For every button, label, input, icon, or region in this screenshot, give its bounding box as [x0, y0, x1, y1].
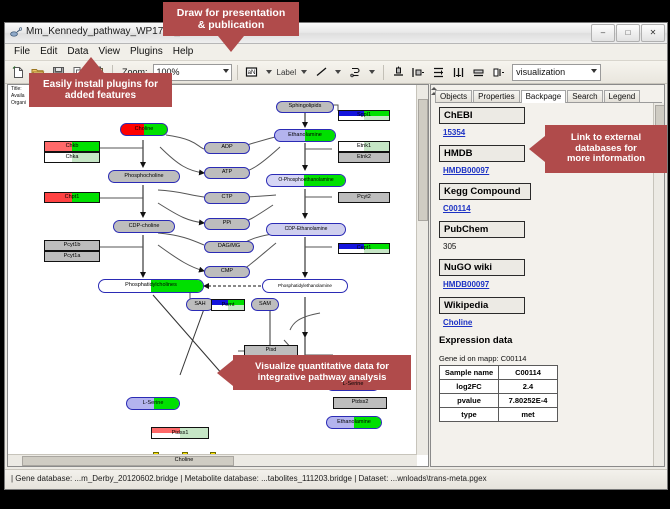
callout-draw-text: Draw for presentation & publication: [177, 7, 286, 31]
db-header-nugo-wiki: NuGO wiki: [439, 259, 525, 276]
gene-etnk1[interactable]: Etnk1: [338, 141, 390, 152]
expression-table: Sample name C00114 log2FC 2.4 pvalue 7.8…: [439, 365, 558, 422]
table-row: pvalue 7.80252E-4: [440, 394, 558, 408]
metabolite-dag-mg[interactable]: DAG/MG: [204, 241, 254, 253]
callout-links-arrow: [529, 136, 545, 162]
db-link-kegg-compound[interactable]: C00114: [443, 204, 652, 213]
chevron-down-icon: [223, 69, 229, 73]
menubar[interactable]: File Edit Data View Plugins Help: [5, 44, 667, 61]
node-label: Pisd: [245, 348, 297, 354]
side-panel-tabs[interactable]: Objects Properties Backpage Search Legen…: [435, 88, 662, 103]
metabolite-phosphatidylethanolamine[interactable]: Phosphatidylethanolamine: [262, 279, 348, 293]
callout-line: & publication: [177, 19, 286, 31]
metabolite-sphingolipids[interactable]: Sphingolipids: [276, 101, 334, 113]
tab-objects[interactable]: Objects: [435, 90, 472, 102]
db-header-pubchem: PubChem: [439, 221, 525, 238]
gene-etnk2[interactable]: Etnk2: [338, 152, 390, 163]
metabolite-phosphocholine[interactable]: Phosphocholine: [108, 170, 180, 183]
node-fill-rightlow: [364, 249, 389, 254]
row-label: pvalue: [440, 394, 499, 408]
node-label: Etnk2: [339, 155, 389, 161]
callout-visualize-text: Visualize quantitative data for integrat…: [255, 362, 389, 384]
node-fill-right: [72, 193, 99, 202]
menu-edit[interactable]: Edit: [35, 45, 62, 59]
metabolite-ethanolamine-bottom[interactable]: Ethanolamine: [326, 416, 382, 429]
gene-pcyt1a[interactable]: Pcyt1a: [44, 251, 100, 262]
line-icon[interactable]: [312, 63, 330, 81]
callout-links-text: Link to external databases for more info…: [567, 133, 645, 166]
gene-pcyt1b[interactable]: Pcyt1b: [44, 240, 100, 251]
db-link-nugo-wiki[interactable]: HMDB00097: [443, 280, 652, 289]
db-header-kegg-compound: Kegg Compound: [439, 183, 531, 200]
resize-handle-sw[interactable]: [153, 466, 159, 467]
node-fill-right: [154, 398, 179, 409]
visualization-select[interactable]: visualization: [512, 64, 601, 81]
chevron-down-icon: [591, 69, 597, 73]
metabolite-ctp[interactable]: CTP: [204, 192, 250, 204]
node-fill-rightlow: [180, 433, 208, 438]
node-fill-right: [72, 142, 99, 151]
gene-chkb[interactable]: Chkb: [44, 141, 100, 152]
chevron-down-icon[interactable]: [266, 70, 272, 74]
callout-line: Link to external: [567, 133, 645, 144]
node-label: ADP: [205, 145, 249, 151]
node-label: CDP-Ethanolamine: [267, 227, 345, 232]
maximize-icon[interactable]: □: [616, 24, 640, 42]
node-label: SAM: [252, 302, 278, 308]
label-button[interactable]: Label: [277, 68, 297, 77]
toolbar-separator-2: [237, 65, 238, 80]
chevron-down-icon[interactable]: [369, 70, 375, 74]
node-fill-right: [72, 153, 99, 162]
metabolite-sah[interactable]: SAH: [186, 298, 214, 311]
db-header-wikipedia: Wikipedia: [439, 297, 525, 314]
gene-sgpl1[interactable]: Sgpl1: [338, 110, 390, 121]
data-node-icon[interactable]: aN: [243, 63, 261, 81]
node-label: CDP-choline: [114, 224, 174, 230]
svg-text:aN: aN: [248, 70, 256, 76]
node-label: Sphingolipids: [277, 104, 333, 110]
row-value: 2.4: [499, 380, 558, 394]
callout-visualize: Visualize quantitative data for integrat…: [233, 355, 411, 390]
statusbar-text: | Gene database: ...m_Derby_20120602.bri…: [11, 474, 487, 483]
callout-line: Visualize quantitative data for: [255, 362, 389, 373]
chevron-down-icon[interactable]: [335, 70, 341, 74]
node-label: ATP: [205, 170, 249, 176]
statusbar: | Gene database: ...m_Derby_20120602.bri…: [5, 469, 667, 489]
gene-ptdss1[interactable]: Ptdss1: [151, 427, 209, 439]
chevron-down-icon[interactable]: [301, 70, 307, 74]
node-fill-right: [305, 130, 335, 141]
node-label: Phosphatidylethanolamine: [263, 284, 347, 289]
scrollbar-thumb[interactable]: [22, 456, 234, 466]
node-label: SAH: [187, 302, 213, 308]
callout-line: integrative pathway analysis: [255, 373, 389, 384]
node-fill-left: [152, 428, 180, 433]
node-label: CTP: [205, 195, 249, 201]
db-header-chebi: ChEBI: [439, 107, 525, 124]
menu-file[interactable]: File: [9, 45, 35, 59]
metabolite-sam[interactable]: SAM: [251, 298, 279, 311]
node-label: Pcyt1a: [45, 254, 99, 260]
callout-plugins-arrow: [78, 57, 104, 73]
node-label: Ptdss2: [334, 400, 386, 406]
row-value: C00114: [499, 366, 558, 380]
gene-chka[interactable]: Chka: [44, 152, 100, 163]
callout-visualize-arrow: [217, 360, 233, 386]
expression-data-heading: Expression data: [439, 335, 652, 346]
tab-search[interactable]: Search: [567, 90, 602, 102]
same-width-icon[interactable]: [489, 63, 507, 81]
node-label: DAG/MG: [205, 244, 253, 250]
gene-ptdss2[interactable]: Ptdss2: [333, 397, 387, 409]
node-fill-right: [354, 417, 381, 428]
gene-chpt1[interactable]: Chpt1: [44, 192, 100, 203]
new-file-icon[interactable]: [9, 63, 27, 81]
metabolite-adp[interactable]: ADP: [204, 142, 250, 154]
node-label: Pcyt1b: [45, 243, 99, 249]
table-row: type met: [440, 408, 558, 422]
gene-pcyt2[interactable]: Pcyt2: [338, 192, 390, 203]
row-label: Sample name: [440, 366, 499, 380]
table-row: log2FC 2.4: [440, 380, 558, 394]
callout-line: added features: [43, 90, 158, 102]
screenshot-root: Mm_Kennedy_pathway_WP1771_45176.gpml – □…: [0, 0, 670, 509]
node-fill-left: [339, 244, 364, 249]
anchor-icon[interactable]: [346, 63, 364, 81]
node-fill-right: [304, 175, 345, 186]
distribute-horizontal-icon[interactable]: [449, 63, 467, 81]
pathvisio-app-icon: [10, 27, 22, 39]
canvas-horizontal-scrollbar[interactable]: [8, 454, 417, 466]
node-fill-left: [339, 111, 364, 116]
db-value-pubchem: 305: [443, 242, 652, 251]
metabolite-ppi[interactable]: PPi: [204, 218, 250, 230]
callout-draw: Draw for presentation & publication: [163, 2, 299, 36]
metabolite-cdp-choline[interactable]: CDP-choline: [113, 220, 175, 233]
callout-draw-arrow: [218, 36, 244, 52]
align-left-icon[interactable]: [409, 63, 427, 81]
metabolite-l-serine-left[interactable]: L-Serine: [126, 397, 180, 410]
callout-plugins: Easily install plugins for added feature…: [29, 73, 172, 107]
distribute-vertical-icon[interactable]: [429, 63, 447, 81]
node-label: Phosphocholine: [109, 174, 179, 180]
minimize-icon[interactable]: –: [591, 24, 615, 42]
window-titlebar: Mm_Kennedy_pathway_WP1771_45176.gpml – □…: [5, 23, 667, 44]
callout-plugins-text: Easily install plugins for added feature…: [43, 79, 158, 102]
metabolite-atp[interactable]: ATP: [204, 167, 250, 179]
menu-help[interactable]: Help: [168, 45, 199, 59]
visualization-value: visualization: [516, 67, 565, 77]
node-fill-right: [151, 280, 203, 292]
row-label: type: [440, 408, 499, 422]
menu-plugins[interactable]: Plugins: [125, 45, 168, 59]
node-fill-rightlow: [364, 116, 389, 121]
gene-cept1[interactable]: Cept1: [338, 243, 390, 254]
gene-pemt[interactable]: Pemt: [211, 299, 245, 311]
close-icon[interactable]: ✕: [641, 24, 665, 42]
callout-links: Link to external databases for more info…: [545, 125, 667, 173]
callout-line: more information: [567, 154, 645, 165]
callout-line: Easily install plugins for: [43, 79, 158, 91]
pathway-canvas[interactable]: Title: Availa Organi: [7, 84, 429, 467]
node-label: CMP: [205, 269, 249, 275]
tab-properties[interactable]: Properties: [473, 90, 519, 102]
stack-icon[interactable]: [469, 63, 487, 81]
resize-handle-s[interactable]: [182, 466, 188, 467]
gene-id-line: Gene id on mapp: C00114: [439, 354, 652, 363]
metabolite-phosphatidylcholine[interactable]: Phosphatidylcholines: [98, 279, 204, 293]
node-label: Pcyt2: [339, 195, 389, 201]
window-controls[interactable]: – □ ✕: [591, 24, 665, 42]
metabolite-choline-top[interactable]: Choline: [120, 123, 168, 136]
row-value: met: [499, 408, 558, 422]
align-top-icon[interactable]: [389, 63, 407, 81]
node-fill-left: [212, 300, 228, 305]
tab-backpage[interactable]: Backpage: [521, 90, 567, 103]
db-link-wikipedia[interactable]: Choline: [443, 318, 652, 327]
tab-legend[interactable]: Legend: [604, 90, 641, 102]
row-label: log2FC: [440, 380, 499, 394]
row-value: 7.80252E-4: [499, 394, 558, 408]
db-header-hmdb: HMDB: [439, 145, 525, 162]
node-fill-rightlow: [228, 305, 244, 310]
metabolite-cdp-ethanolamine[interactable]: CDP-Ethanolamine: [266, 223, 346, 236]
metabolite-cmp[interactable]: CMP: [204, 266, 250, 278]
resize-handle-se[interactable]: [210, 466, 216, 467]
node-fill-right: [364, 142, 389, 151]
node-label: PPi: [205, 221, 249, 227]
scrollbar-thumb[interactable]: [418, 99, 428, 221]
callout-line: Draw for presentation: [177, 7, 286, 19]
table-row: Sample name C00114: [440, 366, 558, 380]
node-fill-right: [144, 124, 167, 135]
metabolite-o-phosphoethanolamine[interactable]: O-Phosphoethanolamine: [266, 174, 346, 187]
canvas-vertical-scrollbar[interactable]: [416, 85, 428, 455]
toolbar-separator-3: [383, 65, 384, 80]
metabolite-ethanolamine[interactable]: Ethanolamine: [274, 129, 336, 142]
